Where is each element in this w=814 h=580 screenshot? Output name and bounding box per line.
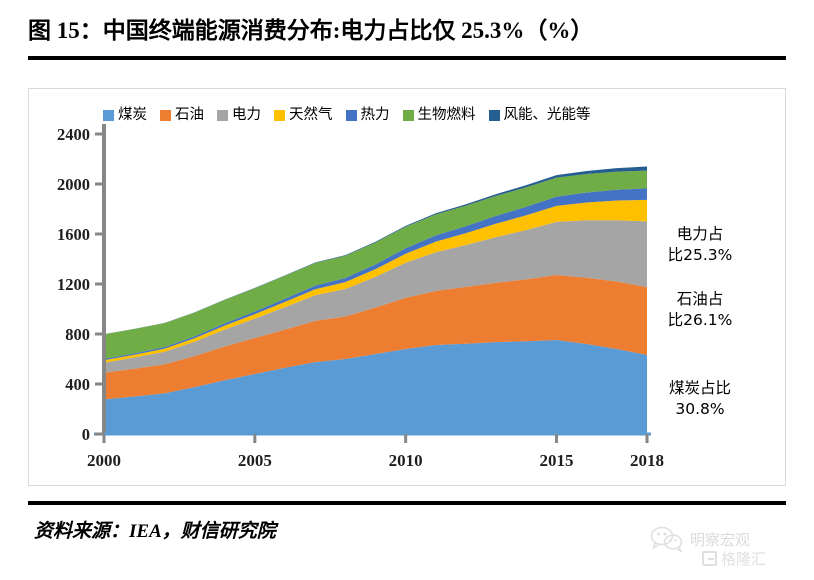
gelonghui-logo-icon [702,551,717,566]
y-tick-label: 2400 [57,125,90,144]
annotation-electricity-line2: 比25.3% [648,245,752,266]
page-title: 图 15：中国终端能源消费分布:电力占比仅 25.3%（%） [28,16,788,46]
annotation-electricity-line1: 电力占 [677,225,724,243]
source-note: 资料来源：IEA，财信研究院 [34,516,276,543]
x-tick-label: 2015 [540,451,574,470]
figure-title-block: 图 15：中国终端能源消费分布:电力占比仅 25.3%（%） [28,16,788,46]
figure-container: 图 15：中国终端能源消费分布:电力占比仅 25.3%（%） 煤炭石油电力天然气… [0,0,814,580]
annotation-electricity: 电力占 比25.3% [648,224,752,266]
watermark-brand-name: 格隆汇 [721,548,766,569]
title-divider [28,56,786,60]
x-tick-label: 2005 [238,451,272,470]
annotation-coal-line1: 煤炭占比 [669,379,731,397]
watermark-account-name: 明察宏观 [690,529,750,550]
x-tick-label: 2010 [389,451,423,470]
y-tick-label: 800 [65,325,90,344]
annotation-coal: 煤炭占比 30.8% [648,378,752,420]
annotation-oil-line2: 比26.1% [648,310,752,331]
y-tick-label: 1600 [57,225,90,244]
y-tick-label: 1200 [57,275,90,294]
chart-frame: 煤炭石油电力天然气热力生物燃料风能、光能等 040080012001600200… [28,88,786,486]
y-tick-label: 0 [82,425,90,444]
annotation-oil-line1: 石油占 [677,290,724,308]
watermark-brand-row: 格隆汇 [702,548,766,569]
annotation-oil: 石油占 比26.1% [648,289,752,331]
annotation-coal-line2: 30.8% [648,399,752,420]
y-tick-label: 400 [65,375,90,394]
x-tick-label: 2018 [630,451,664,470]
watermark: 明察宏观 格隆汇 [650,526,810,574]
wechat-icon [650,526,684,552]
stacked-area-plot: 0400800120016002000240020002005201020152… [29,89,787,487]
y-tick-label: 2000 [57,175,90,194]
footer-divider [28,501,786,505]
x-tick-label: 2000 [87,451,121,470]
